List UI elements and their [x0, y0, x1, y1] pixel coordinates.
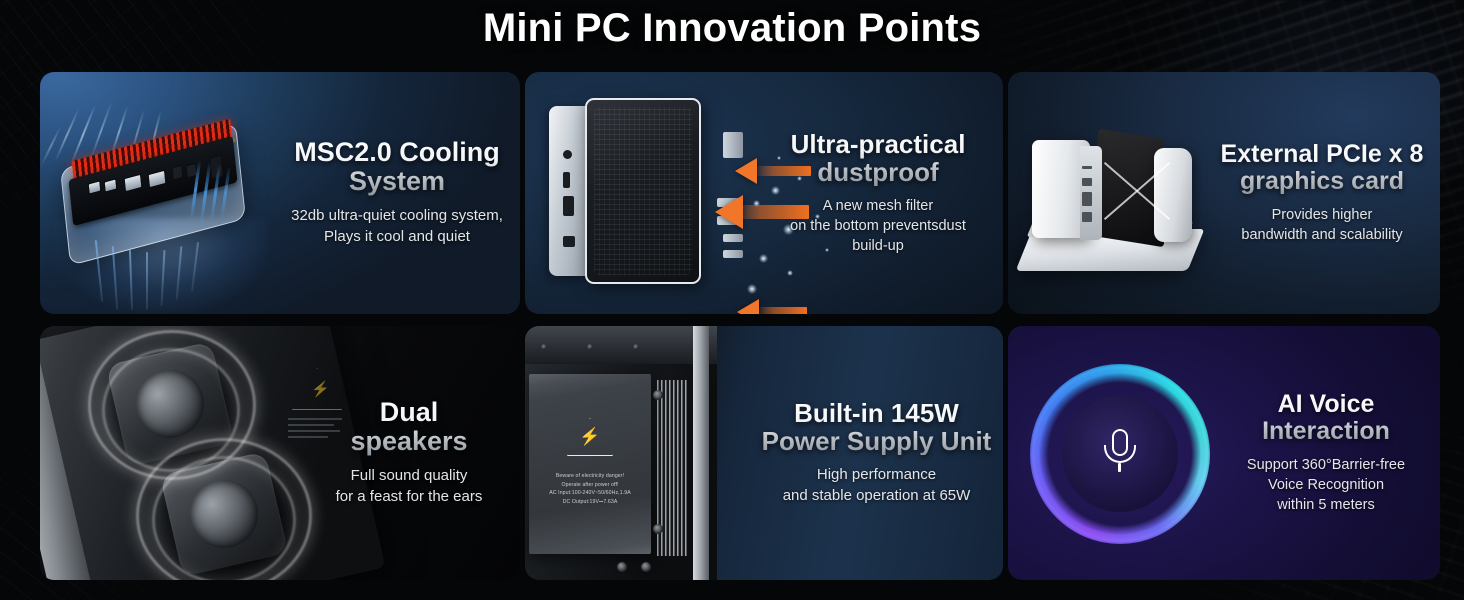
psu-title: Built-in 145W Power Supply Unit: [750, 399, 1003, 455]
feature-card-cooling[interactable]: MSC2.0 Cooling System 32db ultra-quiet c…: [40, 72, 520, 314]
ai-voice-subtitle-line-3: within 5 meters: [1212, 495, 1440, 515]
psu-brick: ⚡ Beware of electricity danger! Operate …: [529, 374, 651, 554]
psu-title-line-1: Built-in 145W: [750, 399, 1003, 427]
psu-text-block: Built-in 145W Power Supply Unit High per…: [750, 399, 1003, 507]
ai-voice-subtitle: Support 360°Barrier-free Voice Recogniti…: [1212, 455, 1440, 515]
ai-voice-title: AI Voice Interaction: [1212, 391, 1440, 445]
dustproof-subtitle-line-3: build-up: [753, 236, 1003, 256]
speakers-title-line-1: Dual: [300, 398, 518, 427]
chassis-top-bar: [525, 326, 717, 364]
cooling-subtitle-line-2: Plays it cool and quiet: [278, 227, 516, 248]
dustproof-title-line-1: Ultra-practical: [753, 130, 1003, 158]
microphone-icon: [1103, 429, 1137, 479]
feature-card-ai-voice[interactable]: AI Voice Interaction Support 360°Barrier…: [1008, 326, 1440, 580]
speakers-text-block: Dual speakers Full sound quality for a f…: [300, 398, 518, 508]
egpu-subtitle-line-1: Provides higher: [1204, 205, 1440, 225]
egpu-title: External PCIe x 8 graphics card: [1204, 141, 1440, 195]
voice-ring-illustration: [1030, 364, 1210, 544]
ai-voice-text-block: AI Voice Interaction Support 360°Barrier…: [1212, 391, 1440, 515]
egpu-title-line-1: External PCIe x 8: [1204, 141, 1440, 168]
gpu-strap: [1094, 142, 1166, 238]
speakers-title-line-2: speakers: [300, 427, 518, 456]
psu-label-line-2: Operate after power off!: [529, 481, 651, 490]
feature-card-external-gpu[interactable]: External PCIe x 8 graphics card Provides…: [1008, 72, 1440, 314]
cooling-subtitle: 32db ultra-quiet cooling system, Plays i…: [278, 206, 516, 247]
feature-card-dustproof[interactable]: Ultra-practical dustproof A new mesh fil…: [525, 72, 1003, 314]
speakers-title: Dual speakers: [300, 398, 518, 456]
psu-label-text: Beware of electricity danger! Operate af…: [529, 472, 651, 506]
pc-side-panel: [549, 106, 587, 276]
page-title: Mini PC Innovation Points: [0, 6, 1464, 51]
dustproof-text-block: Ultra-practical dustproof A new mesh fil…: [753, 130, 1003, 256]
psu-label-line-1: Beware of electricity danger!: [529, 472, 651, 481]
egpu-text-block: External PCIe x 8 graphics card Provides…: [1204, 141, 1440, 245]
mini-pc-cooling-illustration: [44, 100, 284, 314]
internal-psu-illustration: ⚡ Beware of electricity danger! Operate …: [525, 326, 735, 580]
ai-voice-title-line-1: AI Voice: [1212, 391, 1440, 418]
egpu-title-line-2: graphics card: [1204, 168, 1440, 195]
psu-danger-icon: ⚡: [529, 418, 651, 456]
cooling-text-block: MSC2.0 Cooling System 32db ultra-quiet c…: [278, 138, 516, 248]
speakers-subtitle: Full sound quality for a feast for the e…: [300, 466, 518, 507]
psu-subtitle: High performance and stable operation at…: [750, 465, 1003, 506]
dustproof-title: Ultra-practical dustproof: [753, 130, 1003, 186]
mini-pc-mesh-filter-illustration: [549, 98, 749, 288]
mini-pc-egpu-dock-illustration: [1022, 126, 1212, 271]
ai-voice-subtitle-line-2: Voice Recognition: [1212, 475, 1440, 495]
mesh-filter: [594, 107, 692, 275]
psu-title-line-2: Power Supply Unit: [750, 427, 1003, 455]
egpu-subtitle-line-2: bandwidth and scalability: [1204, 225, 1440, 245]
cooling-subtitle-line-1: 32db ultra-quiet cooling system,: [278, 206, 516, 227]
feature-card-dual-speakers[interactable]: ⚡ Dual speakers Full sound quality for a…: [40, 326, 520, 580]
psu-label-line-3: AC Input:100-240V~50/60Hz,1.9A: [529, 489, 651, 498]
psu-subtitle-line-1: High performance: [750, 465, 1003, 486]
ai-voice-subtitle-line-1: Support 360°Barrier-free: [1212, 455, 1440, 475]
ai-voice-title-line-2: Interaction: [1212, 418, 1440, 445]
chassis-side-edge: [693, 326, 709, 580]
speakers-subtitle-line-2: for a feast for the ears: [300, 487, 518, 508]
egpu-subtitle: Provides higher bandwidth and scalabilit…: [1204, 205, 1440, 245]
feature-card-power-supply[interactable]: ⚡ Beware of electricity danger! Operate …: [525, 326, 1003, 580]
feature-card-grid: MSC2.0 Cooling System 32db ultra-quiet c…: [40, 72, 1432, 580]
cooling-title: MSC2.0 Cooling System: [278, 138, 516, 196]
speakers-subtitle-line-1: Full sound quality: [300, 466, 518, 487]
dustproof-subtitle-line-2: on the bottom preventsdust: [753, 216, 1003, 236]
psu-subtitle-line-2: and stable operation at 65W: [750, 486, 1003, 507]
psu-label-line-4: DC Output:19V⎓7.63A: [529, 498, 651, 507]
pc-bottom-face: [585, 98, 701, 284]
